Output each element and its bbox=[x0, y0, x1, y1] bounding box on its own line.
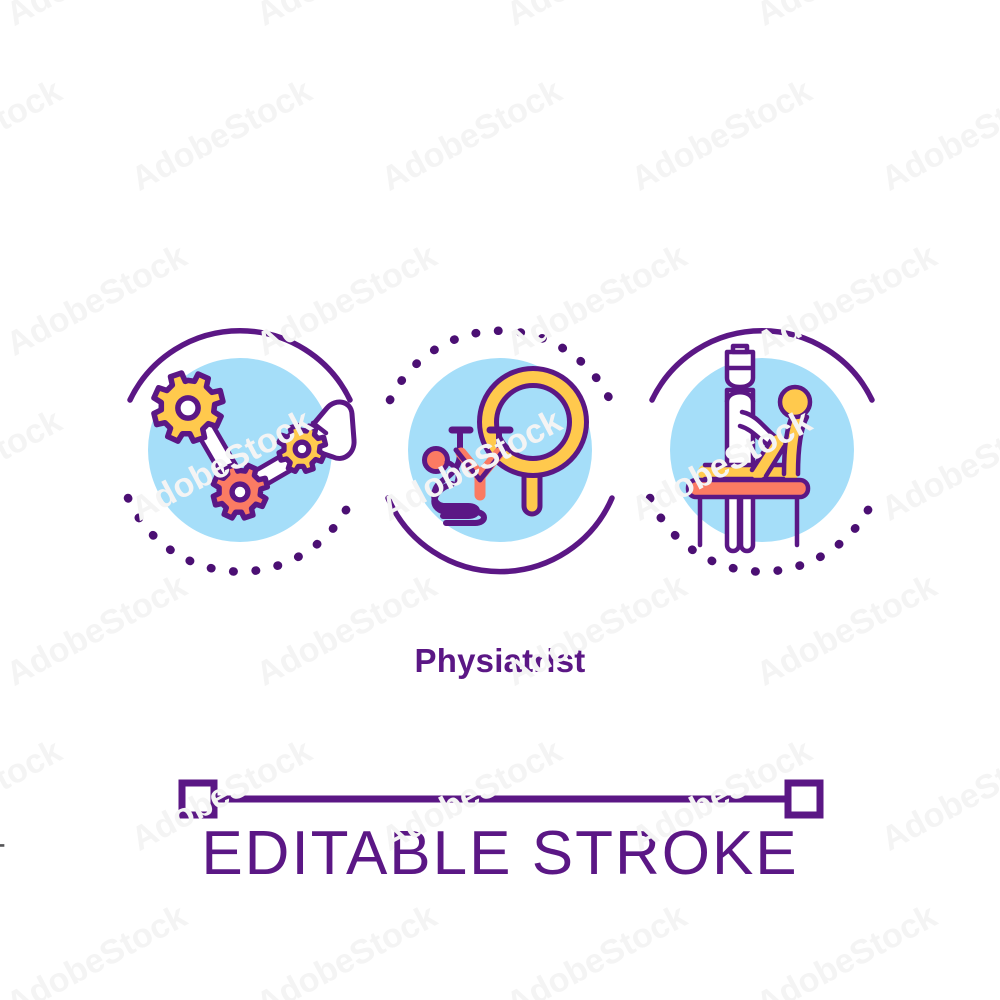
editable-stroke-label: EDITABLE STROKE bbox=[0, 818, 1000, 889]
watermark-tile: AdobeStock bbox=[0, 72, 68, 200]
icon-3-blue-disc bbox=[670, 358, 854, 542]
stroke-endpoint-square-right bbox=[788, 783, 820, 815]
therapy-treatment-table-icon bbox=[650, 331, 874, 572]
illustration-canvas: AdobeStockAdobeStockAdobeStockAdobeStock… bbox=[0, 0, 1000, 1000]
robotic-prosthetic-arm-icon bbox=[128, 331, 354, 572]
watermark-tile: AdobeStock bbox=[0, 897, 193, 1000]
watermark-tile: AdobeStock bbox=[0, 0, 193, 34]
watermark-tile: AdobeStock bbox=[750, 897, 943, 1000]
stethoscope-magnifier-icon bbox=[388, 331, 612, 572]
icon-3-doctor-cap-top bbox=[733, 346, 747, 352]
icon-2-chest-piece bbox=[425, 449, 448, 472]
watermark-tile: AdobeStock bbox=[500, 0, 693, 34]
stroke-sample-bar bbox=[0, 775, 1000, 823]
watermark-tile: AdobeStock bbox=[250, 0, 443, 34]
watermark-tile: AdobeStock bbox=[250, 897, 443, 1000]
watermark-tile: AdobeStock bbox=[125, 72, 318, 200]
watermark-tile: AdobeStock bbox=[500, 897, 693, 1000]
stroke-endpoint-square-left bbox=[182, 783, 214, 815]
icon-3-doctor-shoulders bbox=[727, 392, 753, 402]
watermark-tile: AdobeStock bbox=[750, 0, 943, 34]
page-title: Physiatrist bbox=[0, 642, 1000, 680]
watermark-tile: AdobeStock bbox=[875, 72, 1000, 200]
icon-3-treatment-table-top bbox=[688, 480, 808, 497]
stock-credit-line: Adobe Stock | #430373231 bbox=[0, 720, 6, 982]
icon-cluster bbox=[0, 290, 1000, 610]
watermark-tile: AdobeStock bbox=[625, 72, 818, 200]
icon-3-patient-head bbox=[780, 387, 810, 417]
watermark-tile: AdobeStock bbox=[375, 72, 568, 200]
